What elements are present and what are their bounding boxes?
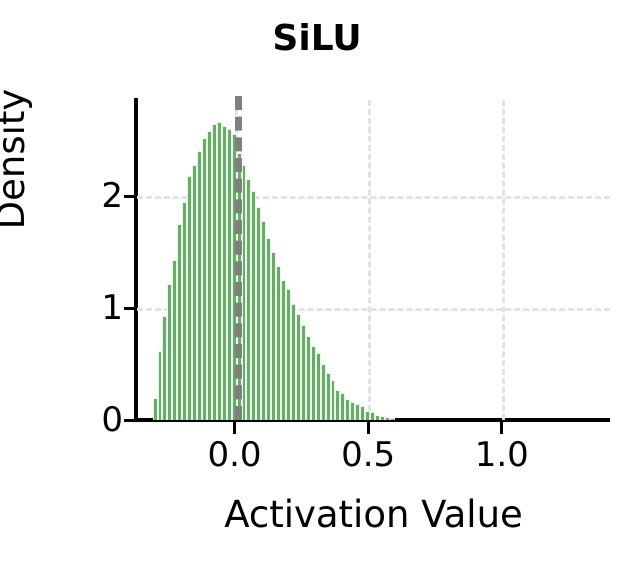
x-axis-tick-label: 1.0	[475, 438, 529, 472]
x-axis-tick-label: 0.0	[207, 438, 261, 472]
x-axis-tick	[233, 420, 236, 434]
y-axis-tick	[124, 419, 137, 422]
y-axis-label: Density	[0, 34, 35, 284]
y-axis-tick	[124, 307, 137, 310]
x-axis-tick	[367, 420, 370, 434]
plot-area: 012 0.00.51.0	[137, 100, 610, 420]
x-axis-tick	[500, 420, 503, 434]
x-axis-label: Activation Value	[137, 492, 610, 538]
y-axis-tick-label: 2	[101, 179, 123, 213]
page-title: SiLU	[0, 17, 634, 61]
x-axis-tick-label: 0.5	[341, 438, 395, 472]
histogram-bar	[390, 418, 395, 420]
y-axis-tick-label: 1	[101, 291, 123, 325]
y-axis-tick	[124, 195, 137, 198]
gridline-vertical	[368, 100, 371, 420]
chart-figure: SiLU 012 0.00.51.0 Activation Value Dens…	[0, 0, 634, 574]
y-axis-tick-label: 0	[101, 403, 123, 437]
zero-reference-line-icon	[235, 96, 242, 420]
gridline-vertical	[502, 100, 505, 420]
